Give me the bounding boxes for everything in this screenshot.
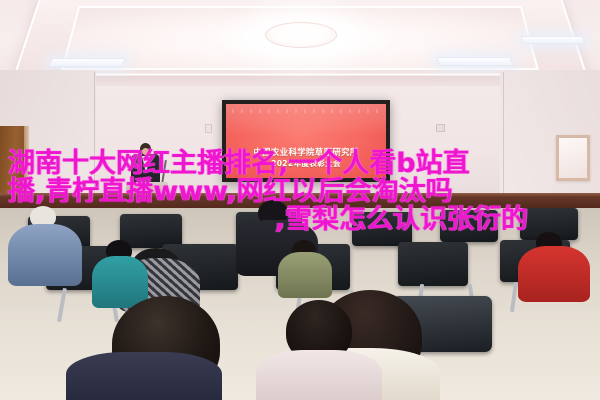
torso (66, 352, 222, 400)
chair (352, 212, 412, 246)
torso (278, 252, 332, 298)
torso (518, 246, 590, 302)
screen-title-line2: 2022年度表彰大会 (271, 158, 341, 169)
ceiling-light-icon (265, 22, 337, 48)
screen-texture (232, 109, 382, 113)
chair (398, 242, 468, 286)
ceiling-panel-light-left (48, 58, 126, 67)
wall-picture-frame (556, 135, 590, 181)
speaker-face (142, 148, 149, 155)
wall-corner-left (94, 72, 95, 198)
torso (8, 224, 82, 286)
wall-corner-right (503, 72, 504, 198)
wall-outlet (205, 124, 212, 133)
chair (120, 214, 182, 248)
torso (256, 350, 382, 400)
wall-fixture (436, 124, 445, 132)
screenshot-root: 中国农业科学院草原研究所 2022年度表彰大会 (0, 0, 600, 400)
torso (92, 256, 148, 308)
screen-title-line1: 中国农业科学院草原研究所 (253, 146, 358, 158)
ceiling-panel-light-corner (520, 36, 585, 44)
ceiling-panel-light-right (436, 57, 514, 66)
chair (440, 210, 498, 242)
projection-screen-content: 中国农业科学院草原研究所 2022年度表彰大会 (226, 104, 386, 178)
projection-screen: 中国农业科学院草原研究所 2022年度表彰大会 (222, 100, 390, 182)
